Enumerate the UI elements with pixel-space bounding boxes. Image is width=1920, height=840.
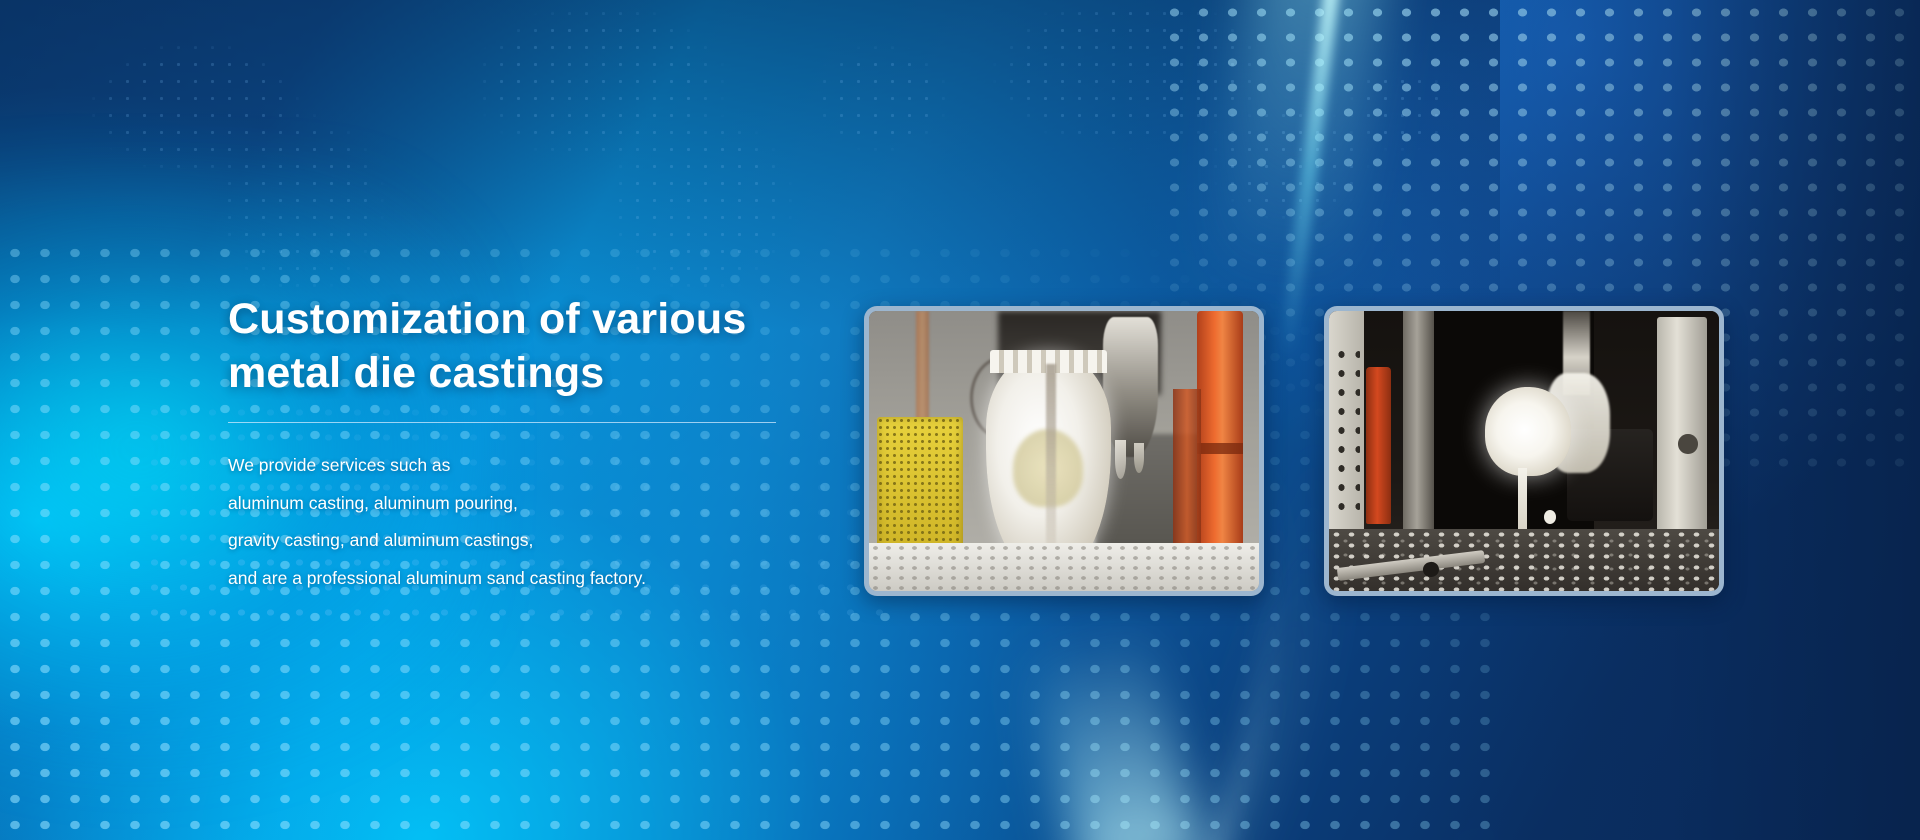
photo-die-casting-part-extraction[interactable]	[864, 306, 1264, 596]
text-block: Customization of various metal die casti…	[228, 292, 848, 587]
description-line-1: We provide services such as	[228, 457, 848, 475]
hero-banner: Customization of various metal die casti…	[0, 0, 1920, 840]
description-line-4: and are a professional aluminum sand cas…	[228, 570, 848, 588]
headline-line-2: metal die castings	[228, 346, 848, 400]
headline-line-1: Customization of various	[228, 292, 848, 346]
photo-2-image	[1329, 311, 1719, 591]
description-line-3: gravity casting, and aluminum castings,	[228, 532, 848, 550]
photo-1-image	[869, 311, 1259, 591]
photo-molten-aluminum-pour[interactable]	[1324, 306, 1724, 596]
banner-content: Customization of various metal die casti…	[0, 0, 1920, 840]
description-line-2: aluminum casting, aluminum pouring,	[228, 495, 848, 513]
page-title: Customization of various metal die casti…	[228, 292, 848, 400]
description-text: We provide services such as aluminum cas…	[228, 457, 848, 587]
title-divider	[228, 422, 776, 423]
